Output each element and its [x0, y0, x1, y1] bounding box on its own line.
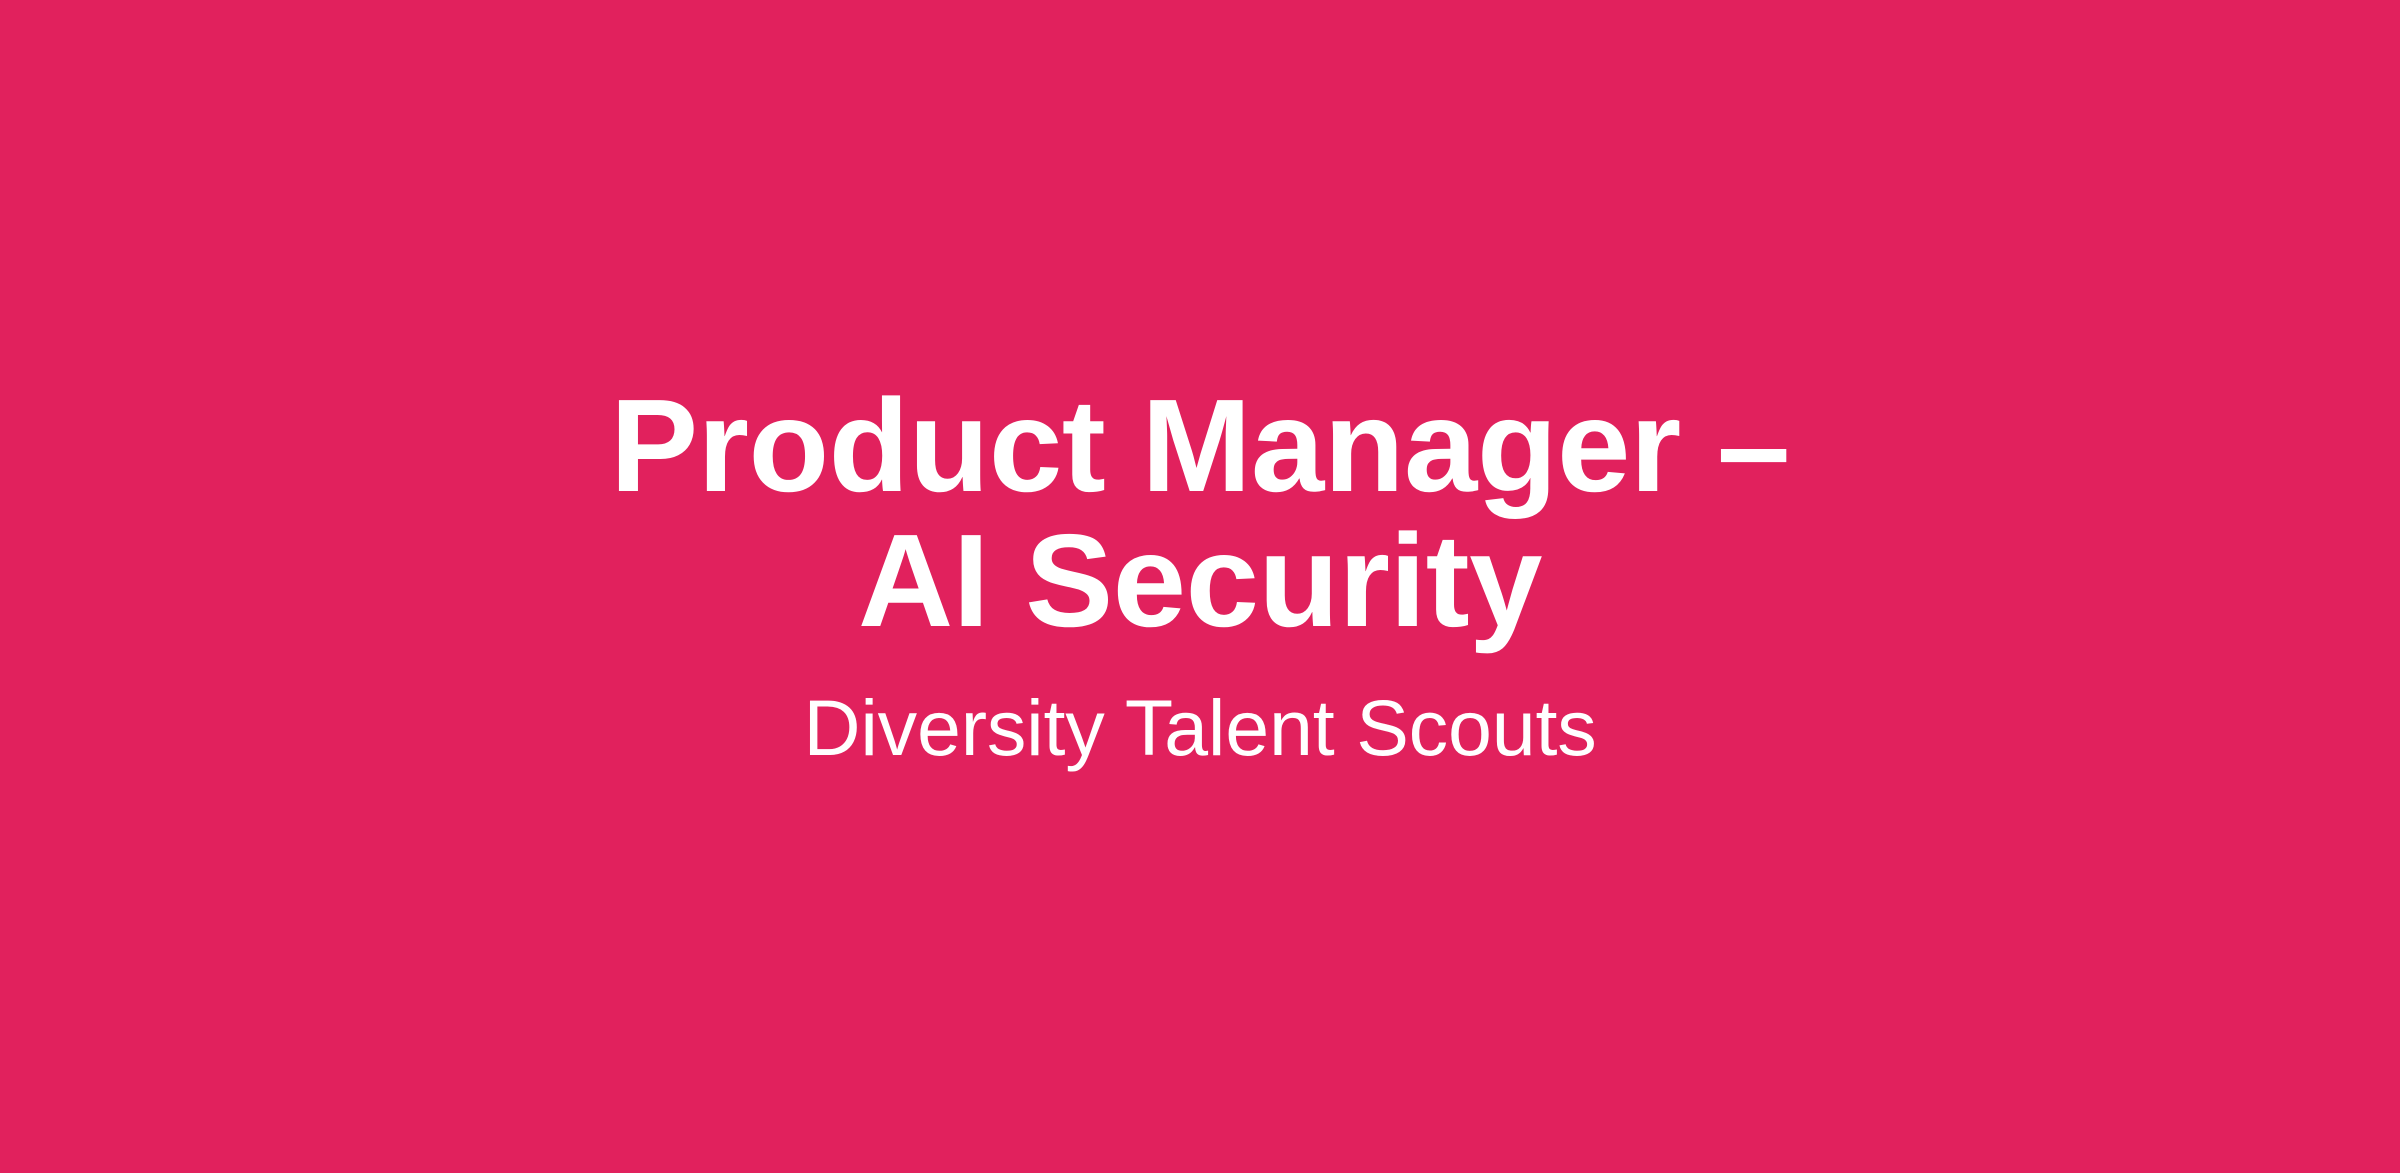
company-name: Diversity Talent Scouts	[803, 685, 1596, 772]
card-content: Product Manager – AI Security Diversity …	[490, 379, 1910, 771]
job-share-card: Product Manager – AI Security Diversity …	[0, 0, 2400, 1173]
job-title: Product Manager – AI Security	[550, 379, 1850, 648]
